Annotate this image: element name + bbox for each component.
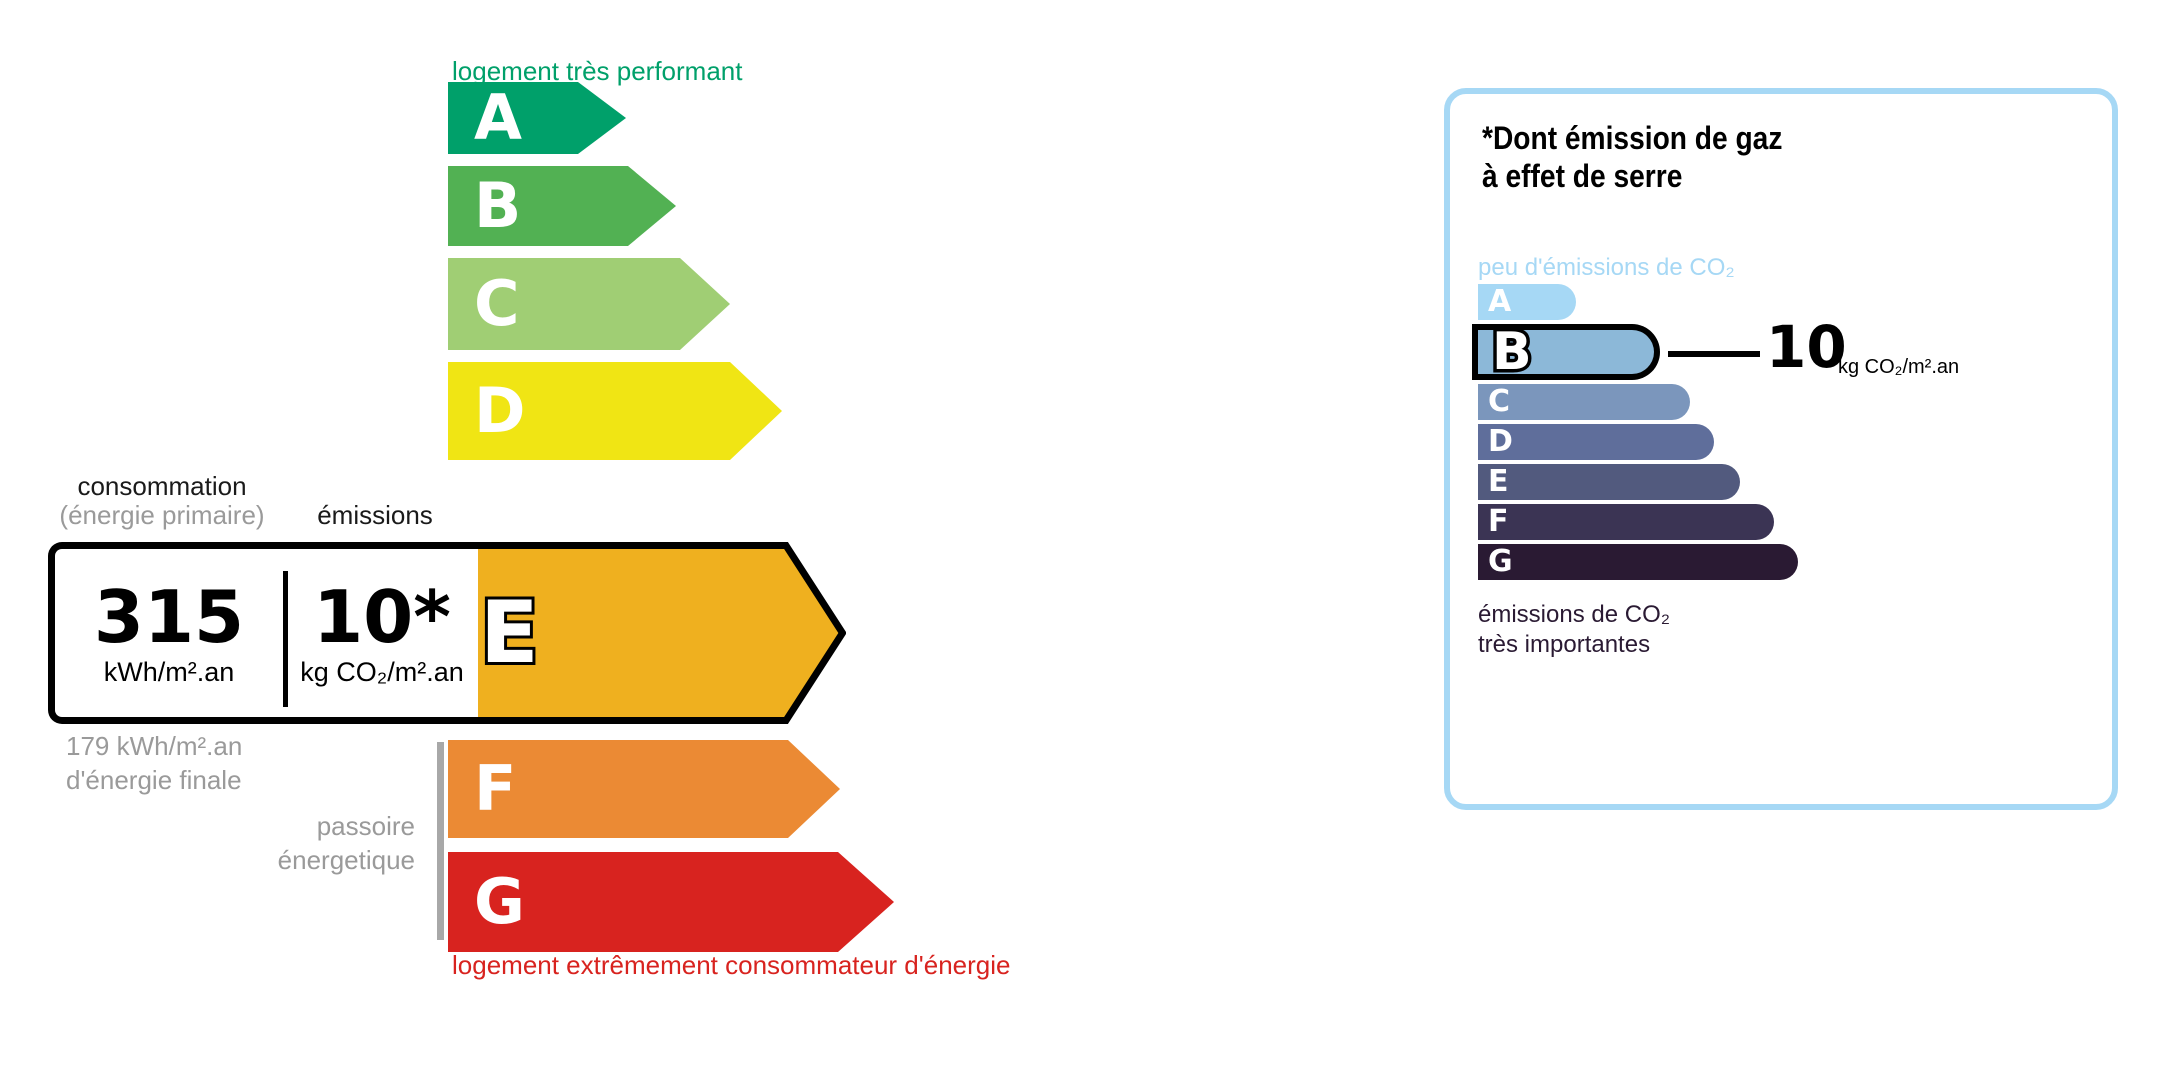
energy-class-letter-d: D (474, 380, 525, 442)
energy-class-letter-e: E (480, 590, 539, 676)
energy-consumption-unit: kWh/m².an (104, 659, 235, 686)
energy-class-letter-g: G (474, 871, 525, 933)
energy-class-arrow-g: G (448, 852, 894, 952)
co2-callout-unit: kg CO₂/m².an (1838, 356, 1959, 379)
energy-performance-diagram: logement très performant ABCDEFG consomm… (0, 0, 1300, 1079)
energy-class-row-b: B (448, 166, 676, 246)
energy-class-row-g: G (448, 852, 894, 952)
co2-class-letter-g: G (1488, 547, 1513, 577)
co2-emission-panel: *Dont émission de gaz à effet de serre p… (1444, 88, 2118, 810)
co2-bottom-line1: émissions de CO₂ (1478, 600, 1670, 630)
energy-class-letter-b: B (474, 175, 521, 237)
co2-class-bar-d (1478, 424, 1714, 460)
co2-callout-value: 10 (1766, 318, 1847, 376)
co2-class-bar-e (1478, 464, 1740, 500)
final-energy-line1: 179 kWh/m².an (66, 730, 242, 764)
passoire-divider-line (437, 742, 444, 940)
energy-class-row-c: C (448, 258, 730, 350)
consumption-label: consommation (énergie primaire) (48, 472, 276, 530)
energy-class-arrow-a: A (448, 82, 626, 154)
energy-class-arrow-b: B (448, 166, 676, 246)
energy-class-arrow-f: F (448, 740, 840, 838)
co2-bottom-caption: émissions de CO₂ très importantes (1478, 600, 1670, 660)
co2-emission-unit: kg CO₂/m².an (300, 659, 464, 686)
co2-bottom-line2: très importantes (1478, 630, 1670, 660)
energy-consumption-cell: 315 kWh/m².an (55, 549, 283, 717)
co2-class-bar-f (1478, 504, 1774, 540)
consumption-label-line1: consommation (48, 472, 276, 501)
energy-class-letter-c: C (474, 273, 520, 335)
final-energy-label: 179 kWh/m².an d'énergie finale (66, 730, 242, 798)
co2-class-letter-f: F (1488, 507, 1509, 537)
energy-bottom-caption: logement extrêmement consommateur d'éner… (452, 950, 1010, 981)
energy-class-row-a: A (448, 82, 626, 154)
co2-class-letter-c: C (1488, 387, 1510, 417)
co2-emission-cell: 10* kg CO₂/m².an (287, 549, 477, 717)
consumption-label-line2: (énergie primaire) (48, 501, 276, 530)
co2-class-bar-g (1478, 544, 1798, 580)
energy-class-arrow-c: C (448, 258, 730, 350)
energy-class-letter-f: F (474, 758, 516, 820)
co2-class-letter-b: B (1492, 326, 1532, 378)
emissions-label: émissions (280, 500, 470, 531)
co2-callout-line (1668, 351, 1760, 357)
co2-title-line2: à effet de serre (1482, 158, 1782, 196)
energy-class-row-f: F (448, 740, 840, 838)
co2-emission-value: 10* (313, 581, 451, 653)
co2-title-line1: *Dont émission de gaz (1482, 120, 1782, 158)
energy-class-arrow-e: E (448, 542, 846, 724)
co2-class-letter-a: A (1488, 287, 1511, 317)
consumption-value-box: 315 kWh/m².an 10* kg CO₂/m².an (48, 542, 478, 724)
co2-top-caption: peu d'émissions de CO₂ (1478, 254, 1735, 282)
energy-consumption-value: 315 (94, 581, 244, 653)
energy-class-row-d: D (448, 362, 782, 460)
co2-class-letter-e: E (1488, 467, 1509, 497)
co2-class-letter-d: D (1488, 427, 1513, 457)
co2-panel-title: *Dont émission de gaz à effet de serre (1482, 120, 1782, 196)
final-energy-line2: d'énergie finale (66, 764, 242, 798)
passoire-line1: passoire (200, 810, 415, 844)
energy-class-arrow-d: D (448, 362, 782, 460)
passoire-energetique-label: passoire énergetique (200, 810, 415, 878)
passoire-line2: énergetique (200, 844, 415, 878)
energy-class-row-e: E (448, 542, 846, 724)
energy-class-letter-a: A (474, 87, 522, 149)
